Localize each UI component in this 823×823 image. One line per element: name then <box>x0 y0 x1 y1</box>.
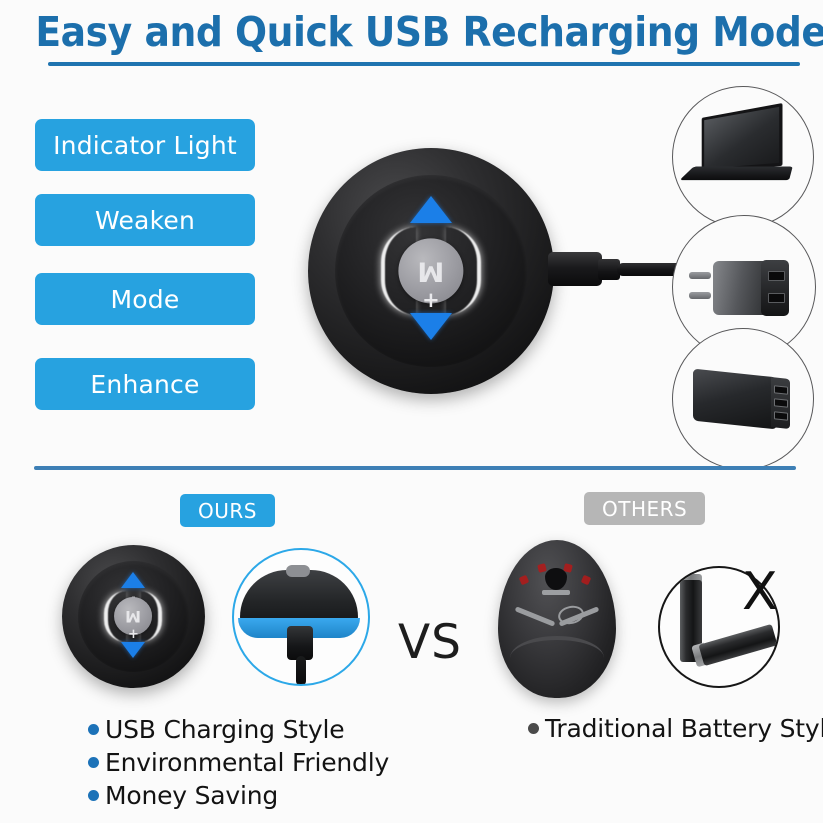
feature-label-text: Mode <box>111 285 180 314</box>
plug-prong-icon <box>689 292 711 299</box>
laptop-screen-icon <box>702 103 783 172</box>
title-block: Easy and Quick USB Recharging Modes <box>0 10 823 54</box>
led-indicator-icon <box>537 563 547 573</box>
feature-label-mode[interactable]: Mode <box>35 273 255 325</box>
list-item-label: Traditional Battery Styles <box>545 714 823 743</box>
list-item: Environmental Friendly <box>88 748 418 777</box>
led-indicator-icon <box>581 575 592 586</box>
usb-port-closeup-circle <box>232 548 370 686</box>
enhance-triangle-up-icon <box>121 572 145 588</box>
title-underline <box>48 62 800 66</box>
ours-device-image: - M + <box>62 545 205 688</box>
mode-button-label: M <box>126 607 142 626</box>
bullet-dot-icon <box>88 790 99 801</box>
list-item-label: USB Charging Style <box>105 715 344 744</box>
bullet-dot-icon <box>528 723 539 734</box>
badge-ours-label: OURS <box>198 499 257 523</box>
badge-ours: OURS <box>180 494 275 527</box>
battery-icon <box>698 624 777 666</box>
badge-others: OTHERS <box>584 492 705 525</box>
increase-sign: + <box>422 290 440 311</box>
usb-plug-icon <box>287 626 313 660</box>
power-bank-port-icon <box>774 398 788 407</box>
mode-button-label: M <box>418 255 445 286</box>
usb-port-icon <box>768 271 785 281</box>
product-infographic: Easy and Quick USB Recharging Modes Indi… <box>0 0 823 823</box>
device-top-nub <box>545 568 567 590</box>
weaken-triangle-down-icon <box>121 642 145 658</box>
feature-label-text: Weaken <box>95 206 195 235</box>
main-device-image: - M + <box>308 148 554 394</box>
led-indicator-icon <box>519 575 530 586</box>
device-contour <box>510 636 604 680</box>
device-slot <box>542 590 570 595</box>
usb-connector-icon <box>548 252 602 286</box>
charging-source-laptop <box>672 86 814 228</box>
list-item: Money Saving <box>88 781 418 810</box>
list-item-label: Money Saving <box>105 781 278 810</box>
device-inner-face: - M + <box>335 175 527 367</box>
enhance-triangle-up-icon[interactable] <box>410 196 452 223</box>
bullet-dot-icon <box>88 757 99 768</box>
list-item: Traditional Battery Styles <box>528 714 808 743</box>
usb-wire <box>296 656 306 686</box>
power-bank-port-icon <box>774 385 788 394</box>
feature-label-weaken[interactable]: Weaken <box>35 194 255 246</box>
ours-benefit-list: USB Charging Style Environmental Friendl… <box>88 715 418 814</box>
list-item: USB Charging Style <box>88 715 418 744</box>
x-mark-icon: X <box>742 566 786 616</box>
power-bank-body-icon <box>693 369 777 430</box>
device-inner-face: - M + <box>78 561 190 673</box>
badge-others-label: OTHERS <box>602 497 687 521</box>
vs-label: VS <box>398 615 462 670</box>
others-device-image <box>498 540 616 698</box>
feature-label-text: Indicator Light <box>53 131 237 160</box>
feature-label-text: Enhance <box>90 370 199 399</box>
page-title: Easy and Quick USB Recharging Modes <box>35 10 823 54</box>
power-bank-port-face <box>771 377 790 429</box>
feature-label-indicator-light[interactable]: Indicator Light <box>35 119 255 171</box>
feature-label-enhance[interactable]: Enhance <box>35 358 255 410</box>
plug-prong-icon <box>689 272 711 279</box>
usb-port-icon <box>768 293 785 303</box>
increase-sign: + <box>128 628 139 641</box>
wall-adapter-port-face <box>761 260 789 316</box>
bullet-dot-icon <box>88 724 99 735</box>
list-item-label: Environmental Friendly <box>105 748 389 777</box>
device-wing-left <box>515 606 556 626</box>
charging-source-power-bank <box>672 328 814 470</box>
power-bank-port-icon <box>774 411 788 420</box>
section-divider <box>34 466 796 470</box>
laptop-keyboard-icon <box>680 167 793 181</box>
device-top-button <box>286 565 310 577</box>
weaken-triangle-down-icon[interactable] <box>410 313 452 340</box>
others-drawback-list: Traditional Battery Styles <box>528 714 808 747</box>
